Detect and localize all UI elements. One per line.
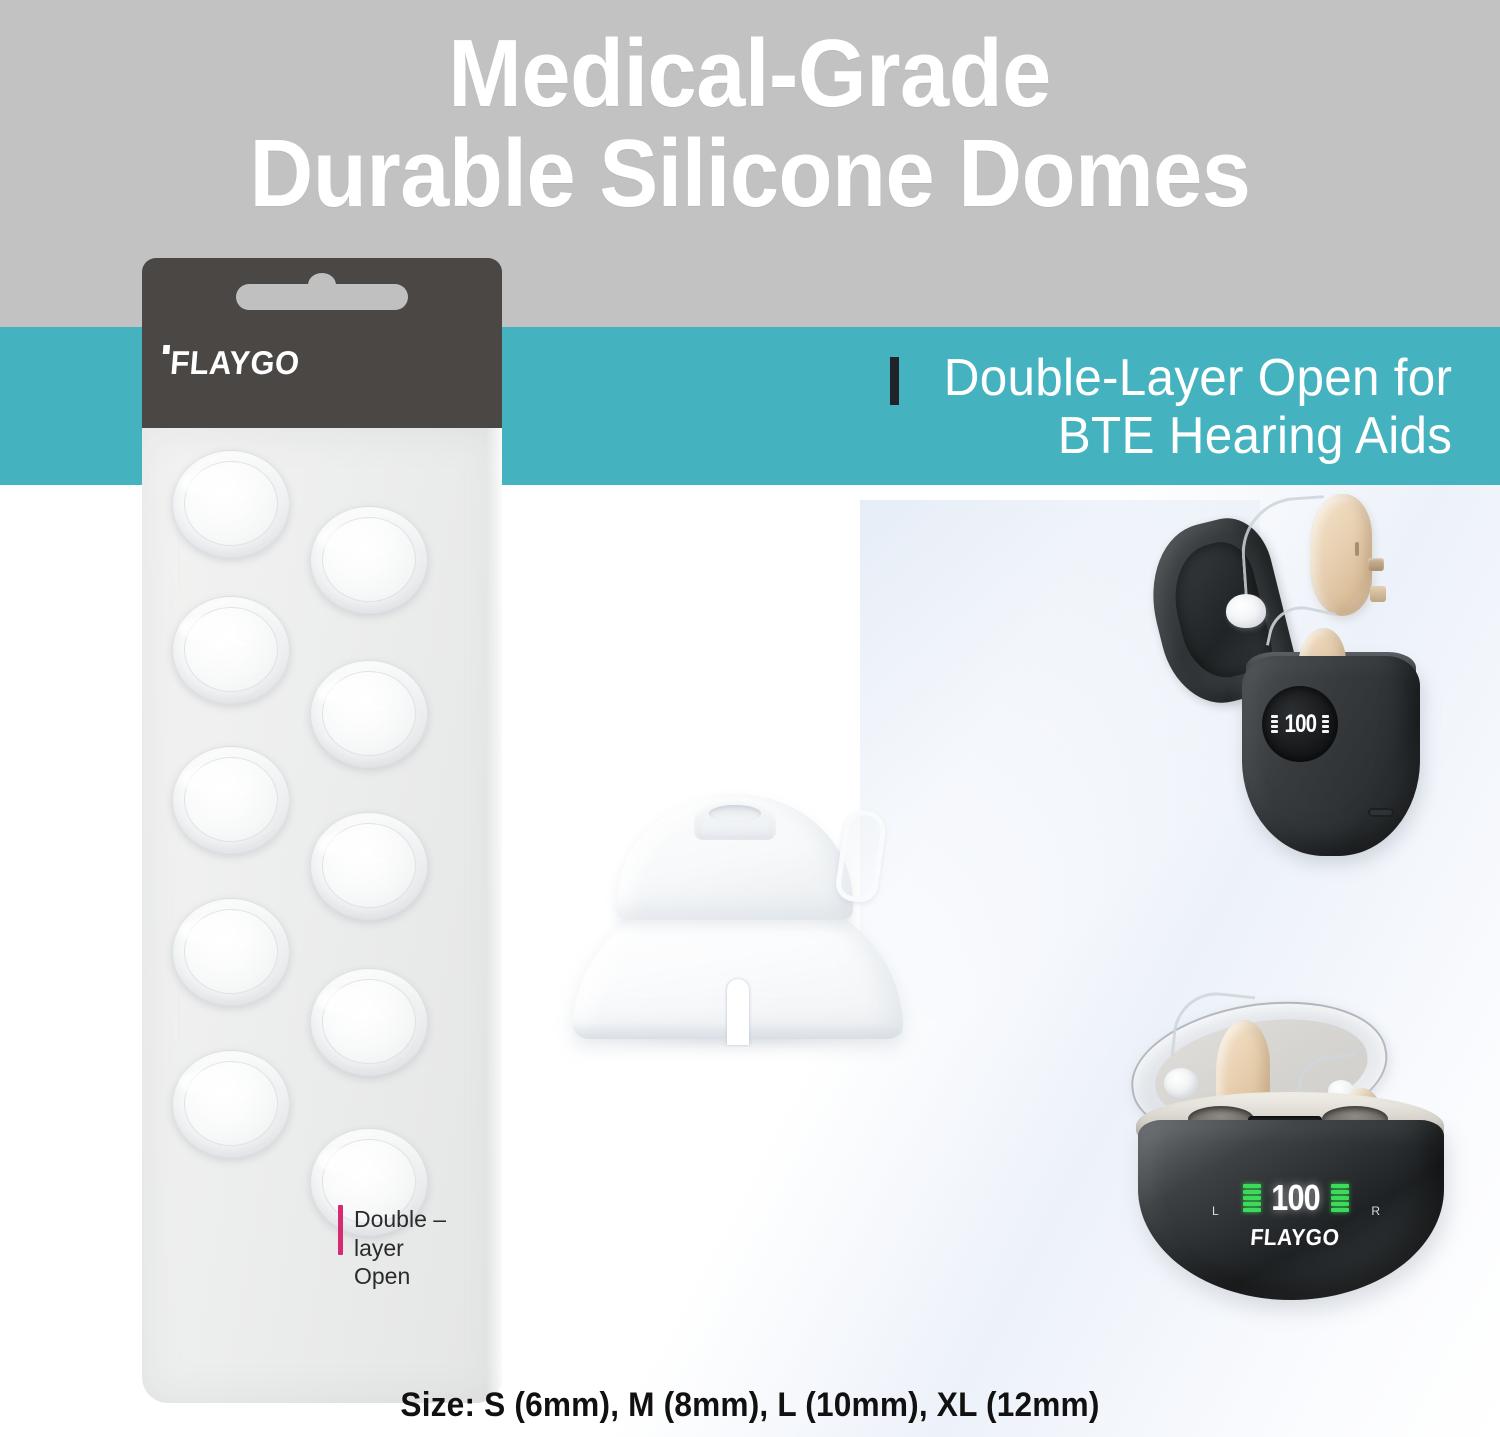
dome-glint [318,526,369,551]
hearing-aid-left-dome [1164,1068,1198,1098]
dome-glint [180,470,231,495]
hero-dome-nozzle-opening [709,805,761,822]
headline-line-1: Medical-Grade [449,24,1052,124]
hearing-aid-ear-dome [1226,594,1266,628]
hero-dome-nozzle [694,798,776,840]
egg-case-battery-value: 100 [1272,1177,1321,1219]
headline-line-2: Durable Silicone Domes [250,124,1251,224]
feature-banner-content: Double-Layer Open for BTE Hearing Aids [890,349,1452,465]
dome-blister [172,596,290,704]
channel-label-right: R [1371,1204,1380,1218]
dome-blister [310,506,428,614]
egg-case-brand-logo: FLAYGO [1142,1224,1448,1251]
hero-silicone-dome [565,770,910,1045]
egg-case-led-display: 100 L R [1206,1172,1386,1224]
dome-blister [172,450,290,558]
banner-accent-bar [890,357,899,405]
dome-glint [180,616,231,641]
package-label-line-1: Double – layer [354,1205,502,1263]
battery-bars-left-icon [1243,1184,1261,1212]
dome-blister [172,898,290,1006]
dome-glint [180,1070,231,1095]
hero-dome-inner-layer [617,794,853,920]
package-variant-label: Double – layer Open [338,1205,502,1291]
package-brand-text: FLAYGO [169,344,301,381]
hang-hole-slot [236,284,408,310]
package-brand-logo: FLAYGO [160,344,301,382]
dome-blister [172,746,290,854]
hearing-aid-microphone-port [1355,542,1359,556]
charging-case-body: 100 [1242,656,1420,856]
logo-dot-icon [163,345,170,354]
dome-blister [310,812,428,920]
hero-dome-vent-loop [834,808,888,905]
package-blister-tray: Double – layer Open [142,428,502,1403]
dome-glint [318,1148,369,1173]
package-label-text: Double – layer Open [354,1205,502,1291]
hero-dome-slit [727,979,749,1045]
hearing-aid-volume-button [1368,558,1384,571]
usb-c-port-icon [1368,808,1394,817]
banner-line-2: BTE Hearing Aids [943,407,1452,465]
size-caption: Size: S (6mm), M (8mm), L (10mm), XL (12… [53,1386,1448,1425]
charging-case-black: 100 [1150,470,1460,870]
banner-text: Double-Layer Open for BTE Hearing Aids [917,349,1452,465]
channel-label-left: L [1212,1204,1219,1218]
dome-blister [172,1050,290,1158]
dome-glint [180,766,231,791]
dome-blister [310,660,428,768]
package-header-card: FLAYGO [142,258,502,428]
blister-package: FLAYGO Double – layer Open [142,258,502,1403]
charging-case-egg: 100 L R FLAYGO [1130,980,1460,1320]
dome-glint [318,832,369,857]
banner-line-1: Double-Layer Open for [943,349,1452,407]
charging-case-led-display: 100 [1262,686,1338,762]
battery-bars-right-icon [1322,715,1329,733]
dome-blister [310,968,428,1076]
charging-case-battery-value: 100 [1284,710,1316,739]
dome-glint [318,680,369,705]
dome-glint [318,988,369,1013]
battery-bars-right-icon [1331,1184,1349,1212]
product-image-stage: Medical-Grade Durable Silicone Domes Dou… [0,0,1500,1437]
dome-glint [180,918,231,943]
package-label-line-2: Open [354,1262,502,1291]
hearing-aid-body [1310,494,1372,616]
battery-bars-left-icon [1271,715,1278,733]
package-label-accent-bar [338,1205,343,1255]
hearing-aid-charging-contact [1370,586,1386,602]
